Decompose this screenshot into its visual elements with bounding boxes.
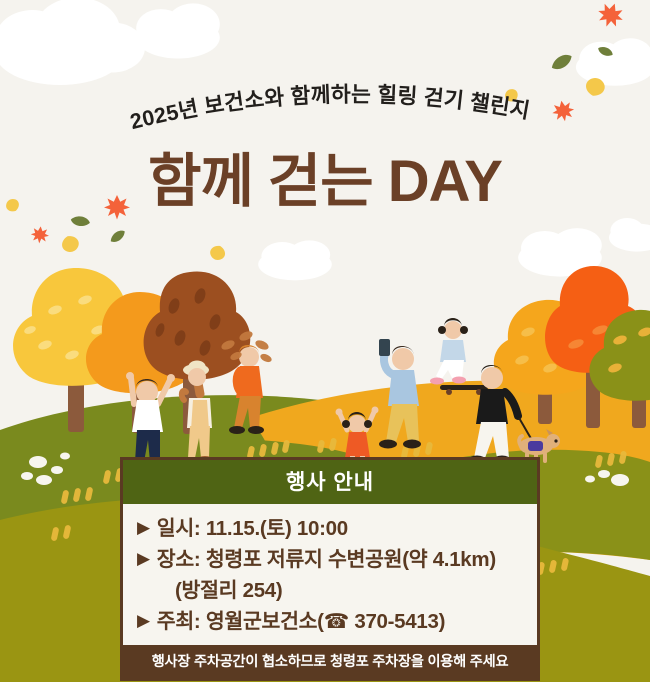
ginkgo-leaf-icon xyxy=(58,230,81,254)
info-row-date-text: 일시: 11.15.(토) 10:00 xyxy=(157,514,348,543)
maple-leaf-icon xyxy=(594,0,627,31)
page-title: 함께 걷는 DAY xyxy=(0,152,650,213)
green-leaf-icon xyxy=(108,229,127,243)
event-info-header: 행사 안내 xyxy=(123,460,537,504)
green-leaf-icon xyxy=(550,53,574,71)
bullet-icon: ▶ xyxy=(137,545,150,572)
ginkgo-leaf-icon xyxy=(502,86,522,106)
info-row-location: ▶ 장소: 청령포 저류지 수변공원(약 4.1km) xyxy=(123,544,537,575)
bullet-icon: ▶ xyxy=(137,514,150,541)
maple-leaf-icon xyxy=(550,99,575,123)
info-row-location-text: 장소: 청령포 저류지 수변공원(약 4.1km) xyxy=(157,545,496,574)
ginkgo-leaf-icon xyxy=(208,240,228,262)
event-info-body: ▶ 일시: 11.15.(토) 10:00 ▶ 장소: 청령포 저류지 수변공원… xyxy=(123,504,537,645)
info-row-date: ▶ 일시: 11.15.(토) 10:00 xyxy=(123,513,537,544)
green-leaf-icon xyxy=(70,213,91,230)
ginkgo-leaf-icon xyxy=(583,76,607,102)
info-row-host-text: 주최: 영월군보건소(☎ 370-5413) xyxy=(157,607,445,636)
poster-canvas: 2025년 보건소와 함께하는 힐링 걷기 챌린지 함께 걷는 DAY 행사 안… xyxy=(0,0,650,682)
green-leaf-icon xyxy=(597,43,614,59)
info-row-host: ▶ 주최: 영월군보건소(☎ 370-5413) xyxy=(123,606,537,637)
event-info-panel: 행사 안내 ▶ 일시: 11.15.(토) 10:00 ▶ 장소: 청령포 저류… xyxy=(120,457,540,681)
info-row-address-text: (방절리 254) xyxy=(175,576,282,605)
maple-leaf-icon xyxy=(30,226,50,245)
event-info-footer-notice: 행사장 주차공간이 협소하므로 청령포 주차장을 이용해 주세요 xyxy=(123,645,537,678)
info-row-address: (방절리 254) xyxy=(123,575,537,606)
bullet-icon: ▶ xyxy=(137,607,150,634)
